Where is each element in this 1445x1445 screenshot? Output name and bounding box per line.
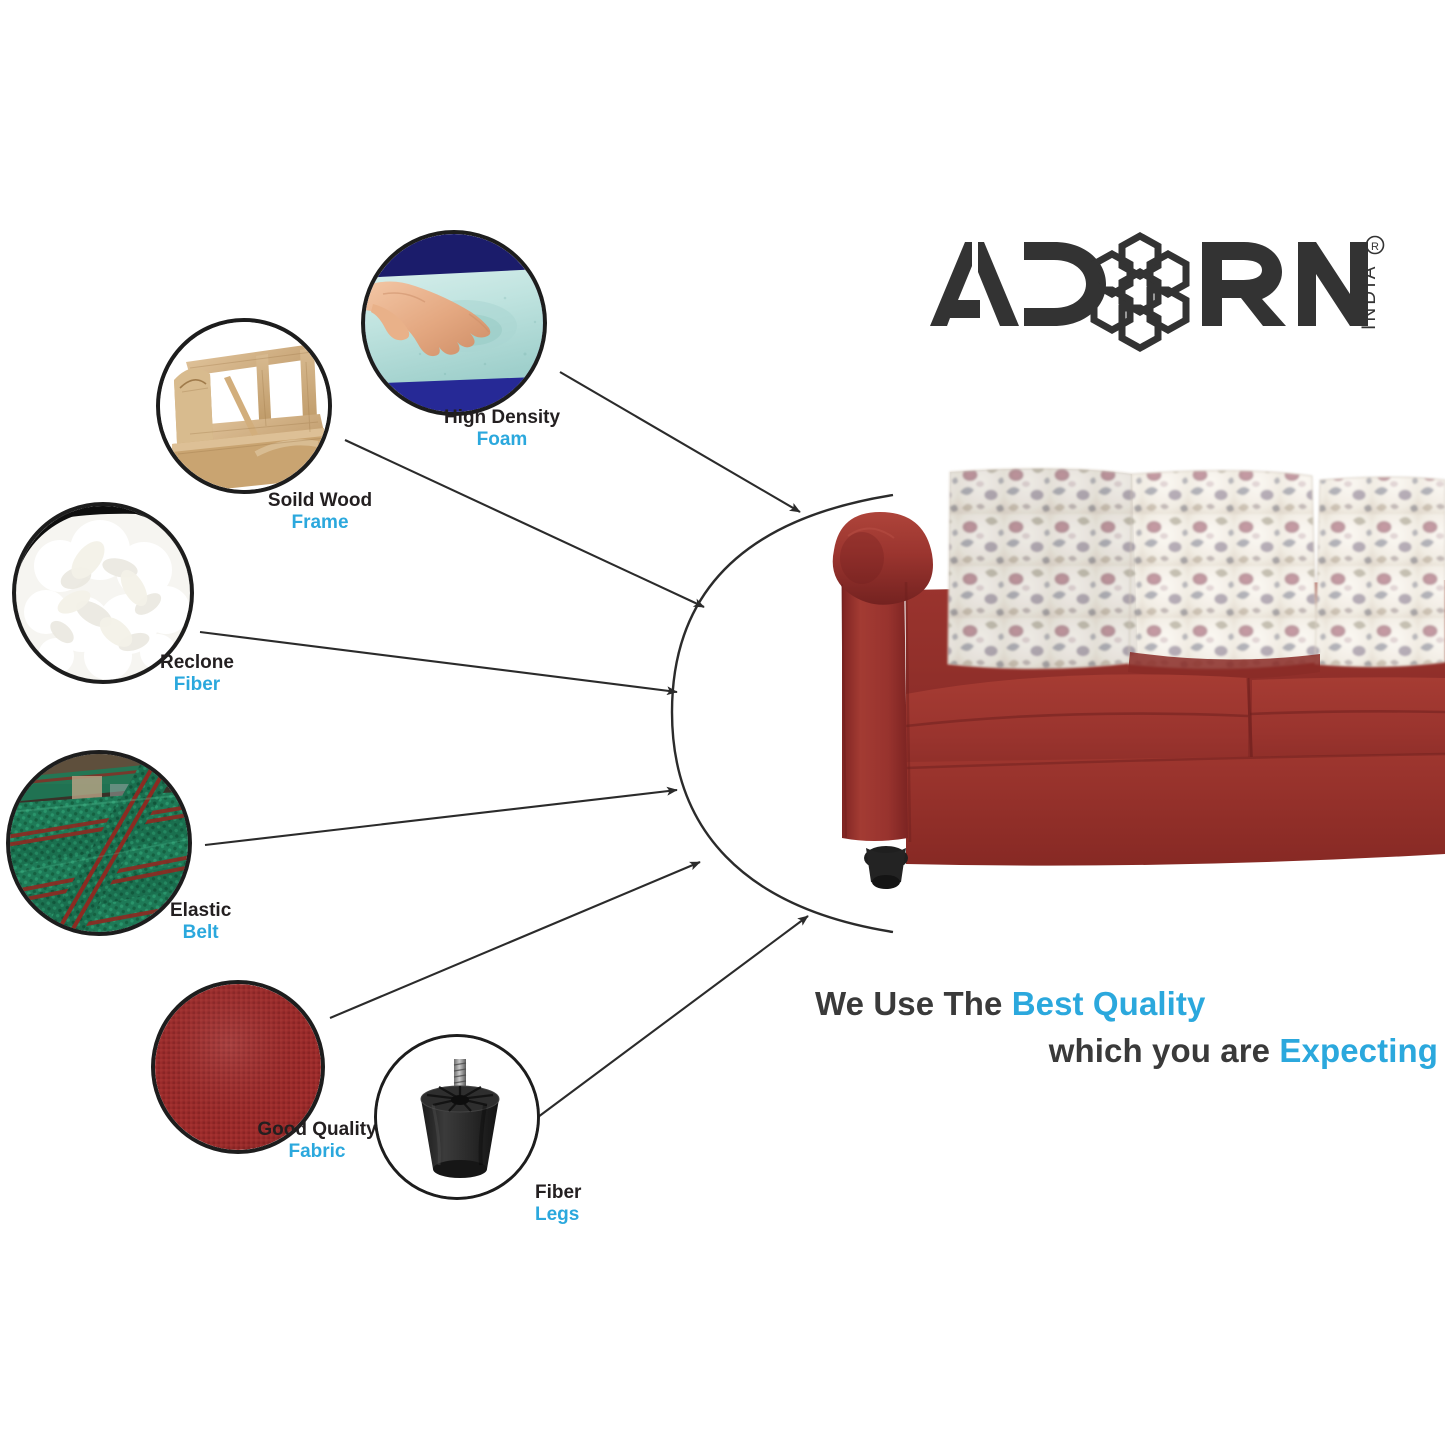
arrow-elastic-belt (205, 790, 677, 845)
product-sofa-image (820, 462, 1445, 922)
arrow-good-quality-fabric (330, 862, 700, 1018)
feature-image-solid-wood-frame (156, 318, 332, 494)
tagline-line1-plain: We Use The (815, 985, 1012, 1022)
feature-label-line2: Legs (535, 1204, 581, 1226)
feature-label-line1: Elastic (170, 900, 231, 922)
feature-label-reclone-fiber: Reclone Fiber (160, 652, 234, 696)
feature-label-line1: High Density (412, 407, 592, 429)
tagline-line-1: We Use The Best Quality (700, 985, 1440, 1023)
feature-image-fiber-legs (374, 1034, 540, 1200)
feature-label-line2: Foam (412, 429, 592, 451)
arrow-reclone-fiber (200, 632, 677, 692)
feature-label-line2: Belt (170, 922, 231, 944)
feature-label-line1: Fiber (535, 1182, 581, 1204)
feature-label-line1: Reclone (160, 652, 234, 674)
tagline-line2-highlight: Expecting (1279, 1032, 1438, 1069)
feature-label-line2: Fiber (160, 674, 234, 696)
infographic-canvas: INDIA R (0, 0, 1445, 1445)
feature-image-elastic-belt (6, 750, 192, 936)
tagline-line-2: which you are Expecting (700, 1032, 1440, 1070)
feature-label-high-density-foam: High Density Foam (412, 407, 592, 451)
feature-label-solid-wood-frame: Soild Wood Frame (230, 490, 410, 534)
tagline-block: We Use The Best Quality which you are Ex… (700, 985, 1440, 1070)
svg-text:INDIA: INDIA (1359, 263, 1380, 330)
feature-label-line1: Soild Wood (230, 490, 410, 512)
feature-label-line2: Frame (230, 512, 410, 534)
tagline-line1-highlight: Best Quality (1012, 985, 1206, 1022)
svg-text:R: R (1371, 241, 1379, 253)
feature-image-high-density-foam (361, 230, 547, 416)
adorn-india-logo: INDIA R (920, 222, 1390, 352)
tagline-line2-plain: which you are (1049, 1032, 1280, 1069)
arrow-high-density-foam (560, 372, 800, 512)
feature-label-elastic-belt: Elastic Belt (170, 900, 231, 944)
feature-label-fiber-legs: Fiber Legs (535, 1182, 581, 1226)
